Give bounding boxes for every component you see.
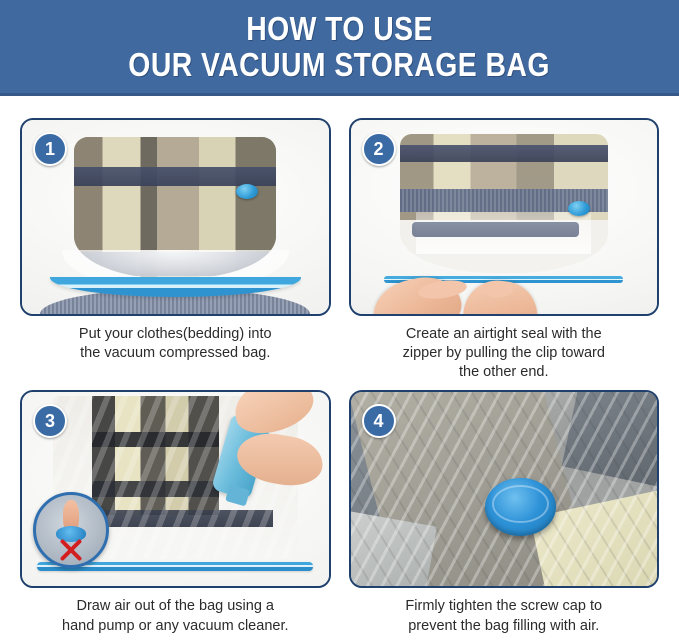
step-badge-1: 1 [33, 132, 67, 166]
screw-cap-icon [485, 478, 555, 536]
step-badge-2: 2 [362, 132, 396, 166]
step-caption-2: Create an airtight seal with the zipper … [349, 325, 660, 382]
step-image-panel-3: 3 [20, 390, 331, 588]
step-caption-1: Put your clothes(bedding) into the vacuu… [20, 325, 331, 363]
step-caption-3: Draw air out of the bag using a hand pum… [20, 597, 331, 635]
caption-line: Create an airtight seal with the [357, 325, 652, 344]
caption-line: Put your clothes(bedding) into [28, 325, 323, 344]
step-image-panel-4: 4 [349, 390, 660, 588]
caption-line: the vacuum compressed bag. [28, 344, 323, 363]
steps-grid: 1 Put your clothes(bedding) into the vac… [0, 96, 679, 641]
red-x-icon [57, 540, 85, 560]
step-card-3: 3 Draw air out of the bag using a hand p… [20, 390, 331, 635]
photo-screw-cap-closeup [351, 392, 658, 586]
step-card-2: 2 Create an airtight seal with the zippe… [349, 118, 660, 382]
header-banner: HOW TO USE OUR VACUUM STORAGE BAG [0, 0, 679, 96]
caption-line: Draw air out of the bag using a [28, 597, 323, 616]
step-caption-4: Firmly tighten the screw cap to prevent … [349, 597, 660, 635]
caption-line: hand pump or any vacuum cleaner. [28, 617, 323, 636]
valve-cap-icon [236, 184, 258, 199]
title-line-1: HOW TO USE [246, 12, 433, 45]
warning-inset-callout [33, 492, 109, 568]
title-line-2: OUR VACUUM STORAGE BAG [129, 48, 551, 81]
step-image-panel-2: 2 [349, 118, 660, 316]
step-image-panel-1: 1 [20, 118, 331, 316]
step-card-4: 4 Firmly tighten the screw cap to preven… [349, 390, 660, 635]
photo-bag-with-bedding [22, 120, 329, 314]
caption-line: zipper by pulling the clip toward [357, 344, 652, 363]
caption-line: prevent the bag filling with air. [357, 617, 652, 636]
caption-line: the other end. [357, 363, 652, 382]
photo-hands-sealing-zipper [351, 120, 658, 314]
infographic-page: HOW TO USE OUR VACUUM STORAGE BAG [0, 0, 679, 641]
step-card-1: 1 Put your clothes(bedding) into the vac… [20, 118, 331, 382]
caption-line: Firmly tighten the screw cap to [357, 597, 652, 616]
step-badge-4: 4 [362, 404, 396, 438]
photo-hand-pump-in-use [22, 392, 329, 586]
